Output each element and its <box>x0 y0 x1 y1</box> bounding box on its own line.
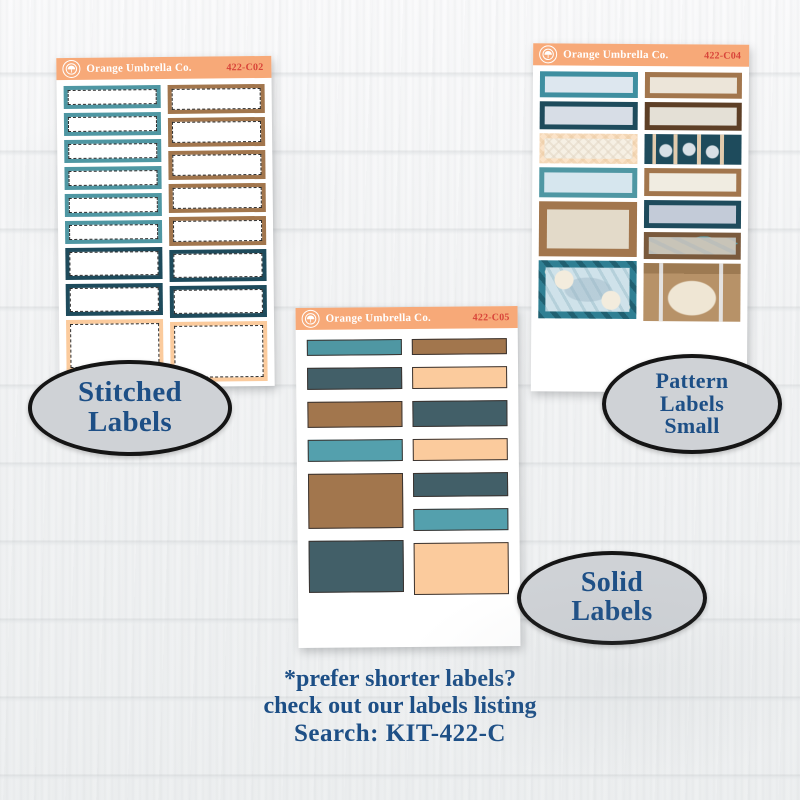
pattern-label-brown-frame[interactable] <box>644 72 742 99</box>
solid-label-peach-1[interactable] <box>412 366 507 389</box>
stitched-label-darkteal-1[interactable] <box>65 247 162 280</box>
stitched-label-teal-2[interactable] <box>64 112 161 136</box>
pattern-label-cream-floral[interactable] <box>539 133 637 164</box>
solid-label-slate-3[interactable] <box>413 472 508 497</box>
label-writing-area <box>173 253 262 278</box>
label-writing-area <box>172 88 261 110</box>
stitched-label-brown-4[interactable] <box>169 183 266 213</box>
umbrella-circle-logo-icon <box>539 45 557 63</box>
sheet-column-right <box>168 84 268 382</box>
stitched-label-brown-2[interactable] <box>168 117 265 147</box>
stitched-label-teal-4[interactable] <box>64 166 161 190</box>
badge-text: Solid Labels <box>571 569 652 626</box>
label-writing-area <box>68 170 157 186</box>
badge-solid-labels: Solid Labels <box>517 551 707 645</box>
sheet-column-right <box>643 72 742 322</box>
badge-pattern-labels-small: Pattern Labels Small <box>602 354 782 454</box>
label-writing-area <box>648 205 736 224</box>
promo-text-block: *prefer shorter labels? check out our la… <box>0 666 800 748</box>
solid-label-teal-1[interactable] <box>307 339 402 356</box>
pattern-label-darkteal-frame-2[interactable] <box>643 200 741 229</box>
label-writing-area <box>172 154 261 176</box>
sheet-header: Orange Umbrella Co. 422-C02 <box>56 56 271 80</box>
label-writing-area <box>69 224 158 240</box>
pattern-label-figures[interactable] <box>644 134 742 165</box>
label-writing-area <box>172 121 261 143</box>
label-writing-area <box>174 289 263 314</box>
solid-label-brown-2[interactable] <box>412 338 507 355</box>
label-writing-area <box>547 209 629 249</box>
sheet-column-right <box>412 338 509 595</box>
stitched-label-teal-5[interactable] <box>65 193 162 217</box>
stitched-label-brown-5[interactable] <box>169 216 266 246</box>
label-writing-area <box>545 76 633 93</box>
sheet-code: 422-C05 <box>473 312 510 323</box>
solid-label-teal-3[interactable] <box>413 508 508 531</box>
sheet-code: 422-C02 <box>226 61 263 72</box>
sheet-column-left <box>64 85 164 372</box>
sticker-sheet-422-c02[interactable]: Orange Umbrella Co. 422-C02 <box>56 56 274 388</box>
pattern-label-teal-frame[interactable] <box>540 71 638 98</box>
stitched-label-darkteal-4[interactable] <box>170 285 267 318</box>
solid-label-brown-large[interactable] <box>308 473 403 529</box>
brand-name: Orange Umbrella Co. <box>326 312 431 325</box>
label-writing-area <box>648 237 736 255</box>
badge-line-1: Solid <box>571 569 652 598</box>
pattern-label-floral-teal-box[interactable] <box>538 260 636 319</box>
badge-line-2: Labels <box>656 393 729 415</box>
label-writing-area <box>649 139 737 160</box>
brand-name: Orange Umbrella Co. <box>563 48 668 61</box>
pattern-label-brown-box[interactable] <box>539 201 637 257</box>
badge-line-1: Stitched <box>78 378 182 408</box>
label-writing-area <box>648 268 736 317</box>
label-writing-area <box>68 89 157 105</box>
label-writing-area <box>68 143 157 159</box>
badge-line-2: Labels <box>78 408 182 438</box>
pattern-label-darkteal-frame[interactable] <box>540 101 638 130</box>
brand-name: Orange Umbrella Co. <box>86 62 191 75</box>
sheet-header: Orange Umbrella Co. 422-C05 <box>296 306 518 330</box>
stitched-label-darkteal-3[interactable] <box>169 249 266 282</box>
umbrella-circle-logo-icon <box>302 310 320 328</box>
label-writing-area <box>173 220 262 242</box>
sheet-body <box>531 65 749 330</box>
solid-label-teal-2[interactable] <box>308 439 403 462</box>
sticker-sheet-422-c05[interactable]: Orange Umbrella Co. 422-C05 <box>296 306 521 648</box>
sticker-sheet-422-c04[interactable]: Orange Umbrella Co. 422-C04 <box>531 43 749 392</box>
sheet-code: 422-C04 <box>704 50 741 61</box>
solid-label-brown-1[interactable] <box>307 401 402 428</box>
sheet-body <box>57 78 275 391</box>
solid-label-slate-1[interactable] <box>307 367 402 390</box>
solid-label-peach-2[interactable] <box>413 438 508 461</box>
label-writing-area <box>649 77 737 94</box>
sheet-body <box>296 328 520 608</box>
badge-text: Stitched Labels <box>78 378 182 437</box>
label-writing-area <box>69 251 158 276</box>
promo-line-2: check out our labels listing <box>0 693 800 720</box>
product-photo-background: Orange Umbrella Co. 422-C02 <box>0 0 800 800</box>
promo-line-3: Search: KIT-422-C <box>0 720 800 748</box>
label-writing-area <box>70 287 159 312</box>
stitched-label-brown-1[interactable] <box>168 84 265 114</box>
label-writing-area <box>544 172 632 193</box>
pattern-label-scene-box[interactable] <box>643 263 741 322</box>
badge-text: Pattern Labels Small <box>656 370 729 437</box>
label-writing-area <box>649 173 737 192</box>
label-writing-area <box>68 116 157 132</box>
label-writing-area <box>69 197 158 213</box>
solid-label-peach-large[interactable] <box>414 542 509 595</box>
label-writing-area <box>545 267 629 312</box>
solid-label-slate-2[interactable] <box>412 400 507 427</box>
stitched-label-brown-3[interactable] <box>168 150 265 180</box>
badge-line-3: Small <box>656 415 729 437</box>
stitched-label-darkteal-2[interactable] <box>66 283 163 316</box>
sheet-column-left <box>538 71 637 319</box>
solid-label-slate-large[interactable] <box>309 540 404 593</box>
pattern-label-brown-frame-2[interactable] <box>644 168 742 197</box>
sheet-header: Orange Umbrella Co. 422-C04 <box>533 43 749 67</box>
pattern-label-lightteal-frame[interactable] <box>539 167 637 198</box>
sheet-column-left <box>307 339 404 593</box>
stitched-label-teal-6[interactable] <box>65 220 162 244</box>
label-writing-area <box>173 187 262 209</box>
label-writing-area <box>649 107 737 126</box>
label-writing-area <box>544 138 632 159</box>
label-writing-area <box>545 106 633 125</box>
pattern-label-leaf-brown[interactable] <box>643 232 741 260</box>
stitched-label-teal-3[interactable] <box>64 139 161 163</box>
stitched-label-teal-1[interactable] <box>64 85 161 109</box>
badge-line-2: Labels <box>571 598 652 627</box>
pattern-label-darkbrown-frame[interactable] <box>644 102 742 131</box>
badge-stitched-labels: Stitched Labels <box>28 360 232 456</box>
promo-line-1: *prefer shorter labels? <box>0 666 800 693</box>
badge-line-1: Pattern <box>656 370 729 392</box>
umbrella-circle-logo-icon <box>62 60 80 78</box>
